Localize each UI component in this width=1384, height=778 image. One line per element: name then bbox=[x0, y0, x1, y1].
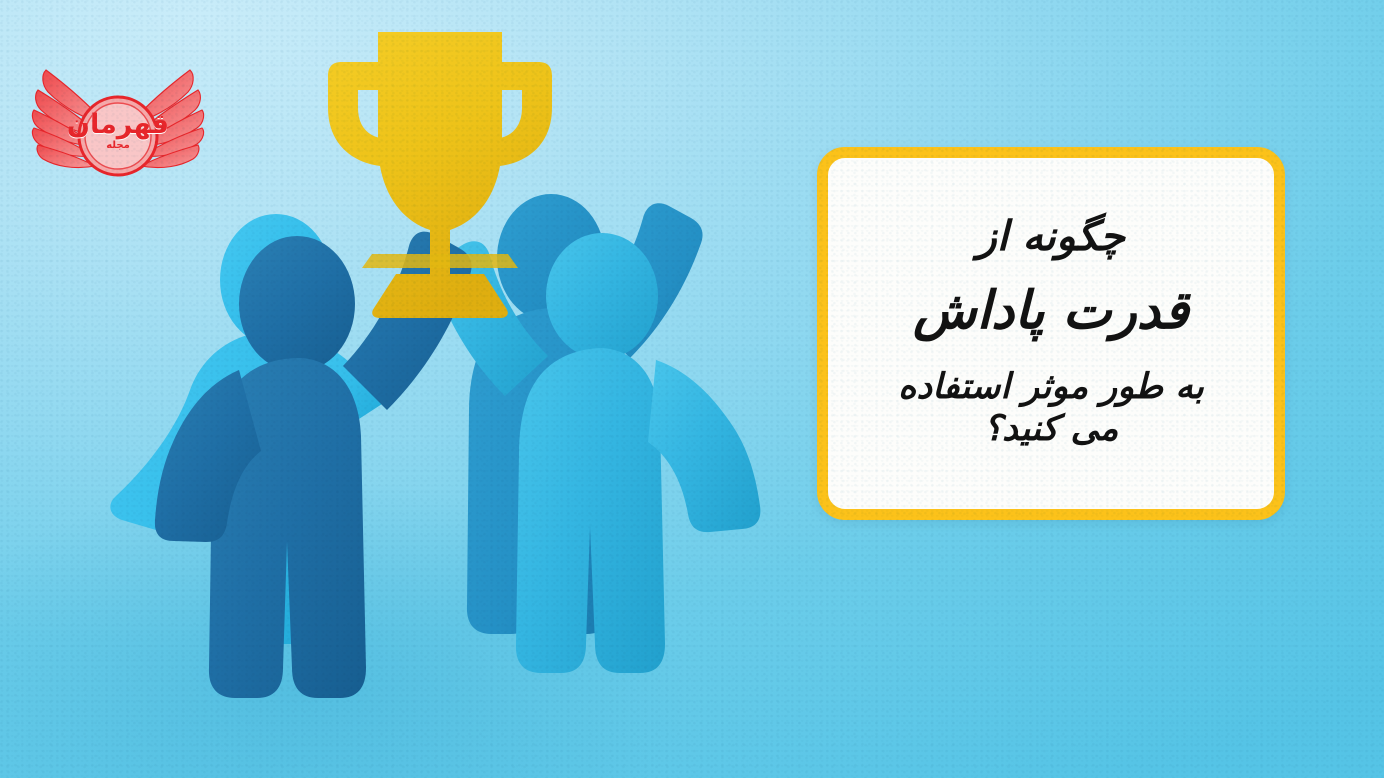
headline-line-3: به طور موثر استفاده bbox=[854, 369, 1248, 406]
headline-line-2: قدرت پاداش bbox=[854, 284, 1248, 339]
trophy-icon bbox=[320, 18, 560, 268]
headline-line-4: می کنید؟ bbox=[854, 411, 1248, 448]
banner-image: قهرمان مجله چگونه از قدرت پاداش به طور م… bbox=[0, 0, 1384, 778]
site-logo[interactable]: قهرمان مجله bbox=[18, 44, 218, 194]
paper-person-front-right bbox=[470, 236, 770, 716]
headline-card: چگونه از قدرت پاداش به طور موثر استفاده … bbox=[817, 147, 1285, 520]
headline-line-1: چگونه از bbox=[854, 215, 1248, 258]
